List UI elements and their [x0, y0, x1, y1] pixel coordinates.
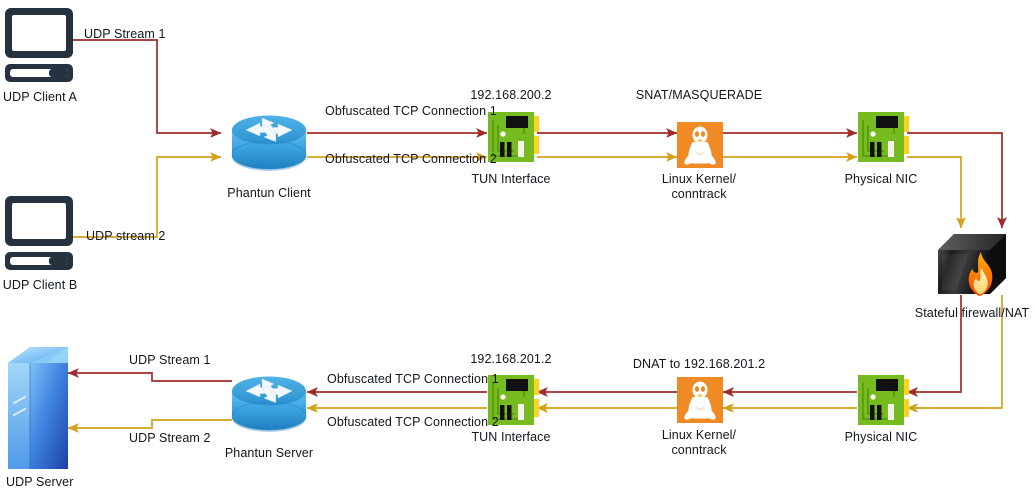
annotation-tun-up-ip: 192.168.200.2 [470, 88, 551, 103]
wire-udp-stream-1-out [68, 373, 232, 381]
flame-icon [969, 252, 993, 296]
kernel-dn-line2: conntrack [671, 443, 726, 457]
wire-udp-stream-2 [72, 157, 221, 237]
node-label-phantun-server: Phantun Server [225, 446, 313, 461]
linux-penguin-icon-kernel-dn [677, 377, 723, 423]
network-card-icon-nic-up [858, 112, 909, 162]
network-diagram-canvas: UDP Client A UDP Client B Phantun Client… [0, 0, 1035, 490]
node-label-kernel-up: Linux Kernel/ conntrack [662, 172, 736, 202]
wire-nic-to-firewall-1 [907, 133, 1002, 228]
kernel-dn-line1: Linux Kernel/ [662, 428, 736, 442]
edge-label-udp-stream-1-bottom: UDP Stream 1 [129, 353, 211, 368]
node-label-udp-client-a: UDP Client A [3, 90, 77, 105]
node-label-firewall: Stateful firewall/NAT [915, 306, 1029, 321]
node-label-kernel-dn: Linux Kernel/ conntrack [662, 428, 736, 458]
edge-label-udp-stream-2-bottom: UDP Stream 2 [129, 431, 211, 446]
kernel-up-line2: conntrack [671, 187, 726, 201]
edge-label-udp-stream-2-top: UDP stream 2 [86, 229, 165, 244]
wire-udp-stream-1 [72, 40, 221, 133]
node-label-udp-server: UDP Server [6, 475, 73, 490]
node-label-physical-nic-dn: Physical NIC [845, 430, 918, 445]
annotation-tun-dn-ip: 192.168.201.2 [470, 352, 551, 367]
connector-lines-layer [0, 0, 1035, 490]
node-label-phantun-client: Phantun Client [227, 186, 310, 201]
annotation-snat: SNAT/MASQUERADE [636, 88, 762, 103]
edge-label-obf-tcp-1-top: Obfuscated TCP Connection 1 [325, 104, 497, 119]
edge-label-obf-tcp-2-bottom: Obfuscated TCP Connection 2 [327, 415, 499, 430]
node-label-tun-interface-dn: TUN Interface [471, 430, 550, 445]
network-card-icon-nic-dn [858, 375, 909, 425]
router-icon-phantun-server [232, 377, 306, 433]
wire-udp-stream-2-out [68, 420, 232, 428]
server-tower-icon [8, 347, 68, 469]
linux-penguin-icon-kernel-up [677, 122, 723, 168]
desktop-computer-icon-client-a [5, 8, 73, 82]
node-label-physical-nic-up: Physical NIC [845, 172, 918, 187]
annotation-dnat: DNAT to 192.168.201.2 [633, 357, 765, 372]
desktop-computer-icon-client-b [5, 196, 73, 270]
router-icon-phantun-client [232, 116, 306, 172]
kernel-up-line1: Linux Kernel/ [662, 172, 736, 186]
edge-label-obf-tcp-2-top: Obfuscated TCP Connection 2 [325, 152, 497, 167]
edge-label-udp-stream-1-top: UDP Stream 1 [84, 27, 166, 42]
wire-nic-to-firewall-2 [907, 157, 961, 228]
node-label-tun-interface-up: TUN Interface [471, 172, 550, 187]
node-label-udp-client-b: UDP Client B [3, 278, 78, 293]
edge-label-obf-tcp-1-bottom: Obfuscated TCP Connection 1 [327, 372, 499, 387]
firewall-flame-icon [938, 234, 1006, 296]
